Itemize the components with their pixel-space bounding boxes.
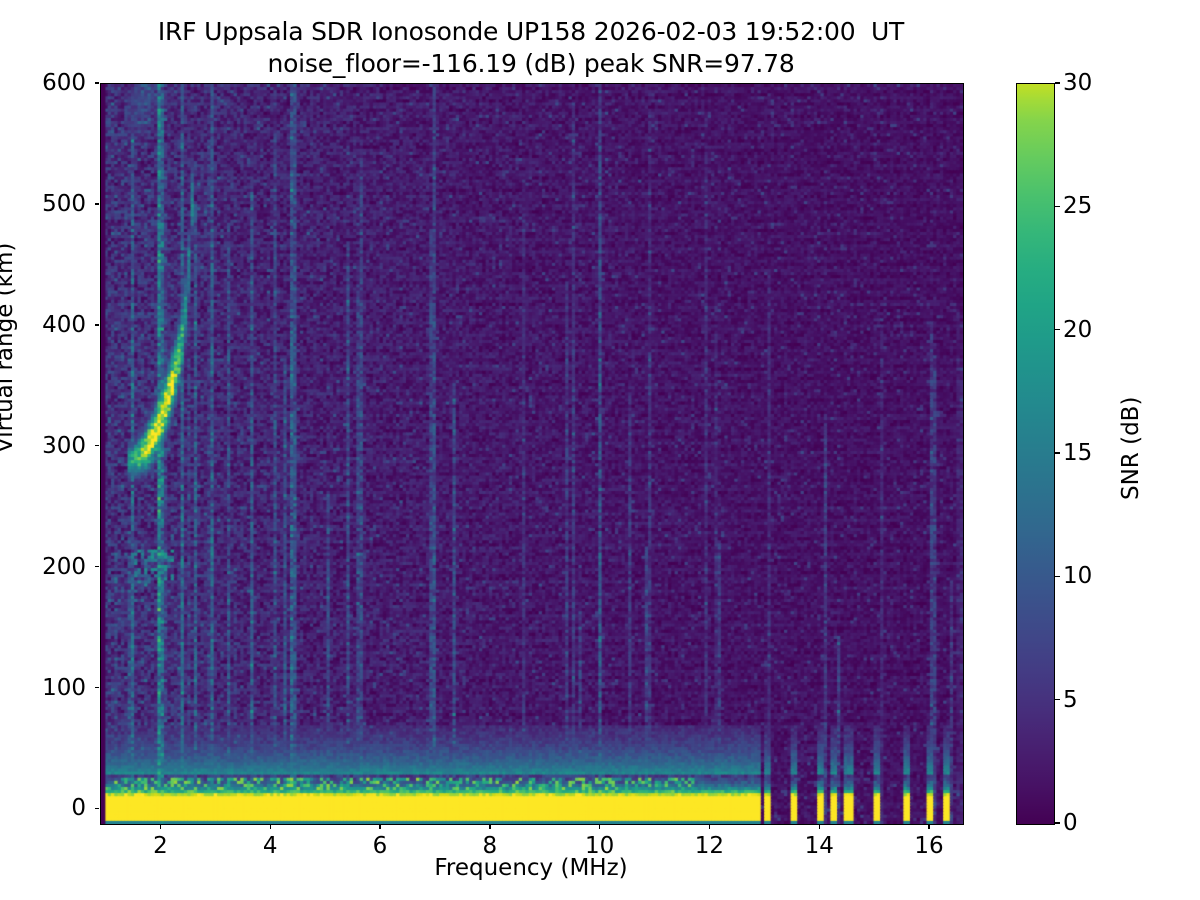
colorbar-tick-mark: [1055, 206, 1060, 207]
colorbar: [1016, 83, 1055, 825]
x-axis-label: Frequency (MHz): [100, 855, 962, 881]
colorbar-tick-mark: [1055, 452, 1060, 453]
colorbar-tick-mark: [1055, 699, 1060, 700]
y-tick-mark: [95, 445, 99, 446]
figure-title: IRF Uppsala SDR Ionosonde UP158 2026-02-…: [0, 16, 1062, 80]
y-tick-label: 0: [26, 795, 86, 821]
colorbar-tick-label: 25: [1063, 193, 1092, 219]
x-tick-mark: [709, 825, 710, 829]
colorbar-tick-label: 0: [1063, 810, 1078, 836]
colorbar-tick-label: 30: [1063, 70, 1092, 96]
colorbar-tick-mark: [1055, 82, 1060, 83]
colorbar-tick-mark: [1055, 822, 1060, 823]
y-tick-mark: [95, 687, 99, 688]
x-tick-mark: [928, 825, 929, 829]
x-tick-mark: [599, 825, 600, 829]
colorbar-tick-mark: [1055, 576, 1060, 577]
x-tick-mark: [160, 825, 161, 829]
colorbar-tick-label: 15: [1063, 440, 1092, 466]
y-tick-label: 200: [26, 554, 86, 580]
x-tick-mark: [489, 825, 490, 829]
colorbar-tick-label: 20: [1063, 317, 1092, 343]
y-tick-mark: [95, 203, 99, 204]
y-tick-label: 400: [26, 312, 86, 338]
colorbar-tick-label: 5: [1063, 687, 1078, 713]
y-tick-mark: [95, 324, 99, 325]
title-line-2: noise_floor=-116.19 (dB) peak SNR=97.78: [0, 48, 1062, 80]
y-axis-label: Virtual range (km): [0, 243, 18, 453]
colorbar-tick-mark: [1055, 329, 1060, 330]
title-line-1: IRF Uppsala SDR Ionosonde UP158 2026-02-…: [0, 16, 1062, 48]
ionogram-figure: IRF Uppsala SDR Ionosonde UP158 2026-02-…: [0, 0, 1200, 900]
x-tick-mark: [819, 825, 820, 829]
colorbar-tick-label: 10: [1063, 563, 1092, 589]
colorbar-label: SNR (dB): [1118, 397, 1144, 500]
x-tick-mark: [379, 825, 380, 829]
y-tick-mark: [95, 82, 99, 83]
y-tick-mark: [95, 808, 99, 809]
heatmap-axes: [100, 83, 964, 825]
x-tick-mark: [270, 825, 271, 829]
ionogram-heatmap: [101, 84, 963, 824]
y-tick-label: 600: [26, 70, 86, 96]
y-tick-label: 100: [26, 675, 86, 701]
y-tick-label: 300: [26, 433, 86, 459]
y-tick-mark: [95, 566, 99, 567]
y-tick-label: 500: [26, 191, 86, 217]
